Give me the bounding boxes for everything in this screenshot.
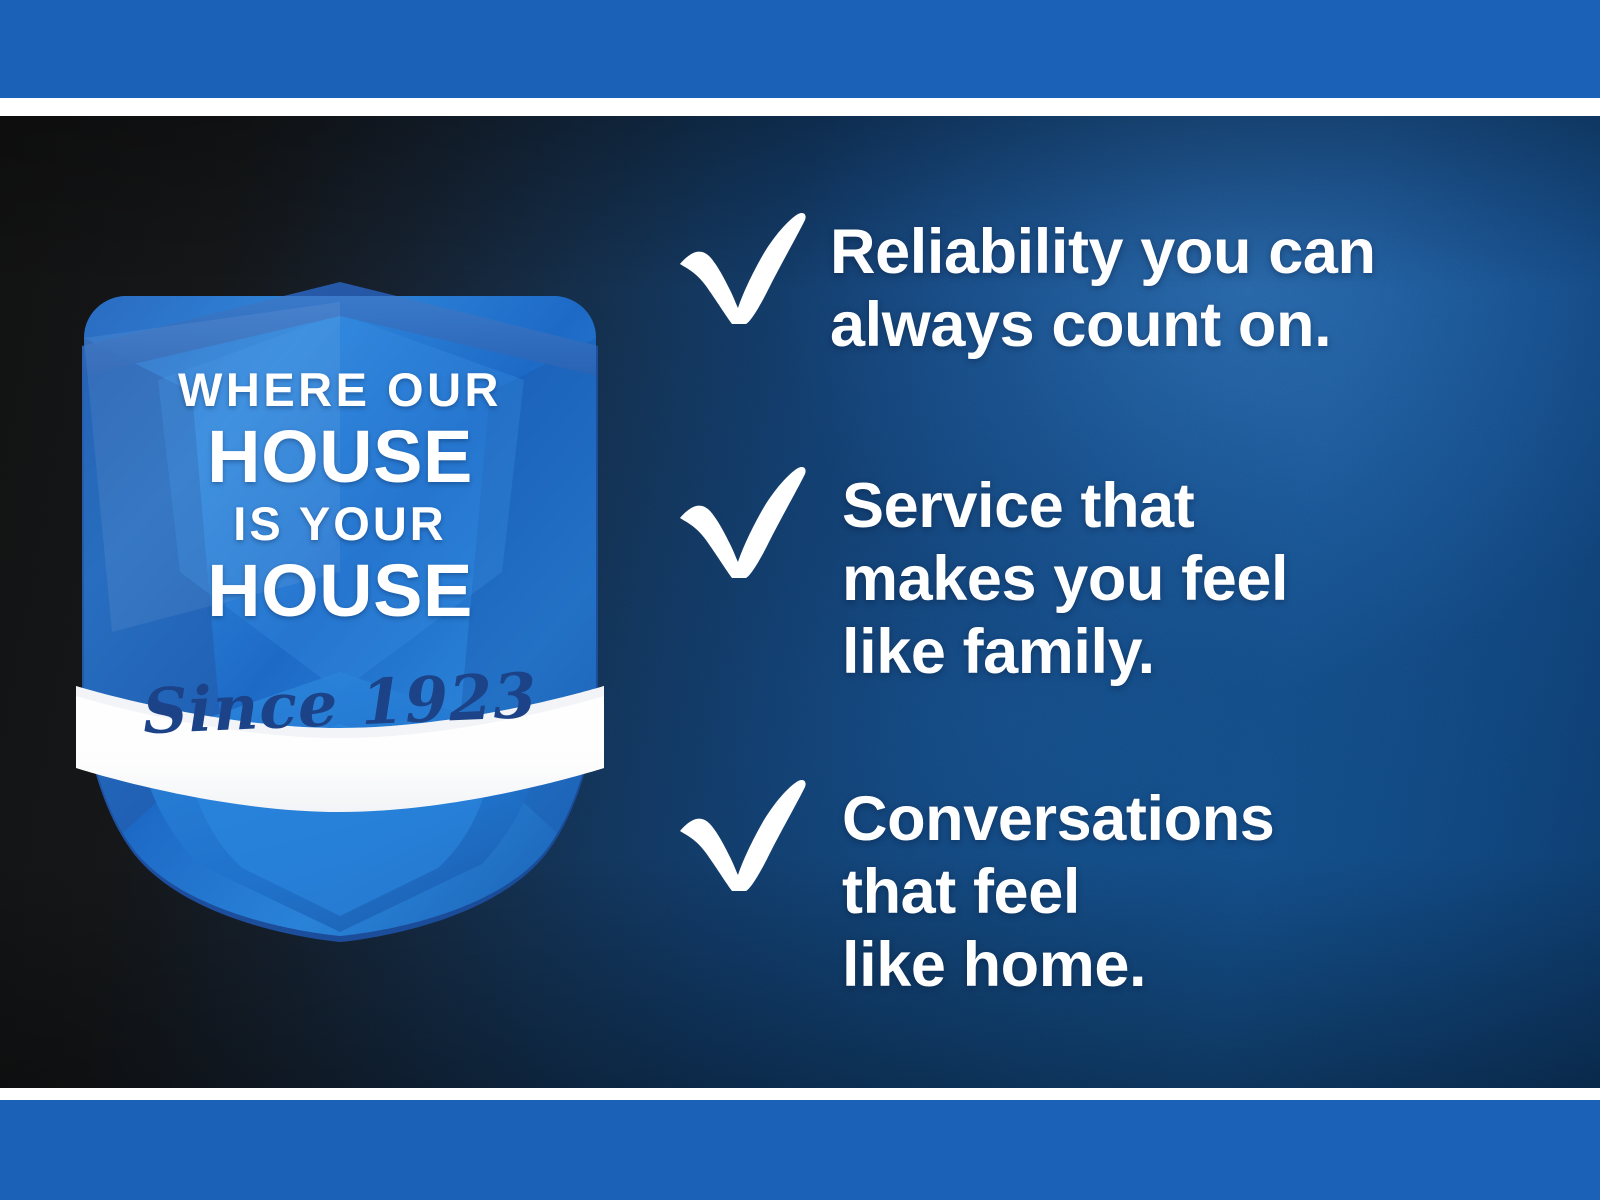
checkmark-icon [676,212,808,324]
list-item-text: Reliability you can always count on. [830,212,1376,362]
checkmark-icon [676,779,808,891]
benefits-list: Reliability you can always count on. Ser… [660,116,1540,1088]
shield-face [72,272,608,944]
list-item-text: Conversations that feel like home. [842,779,1274,1002]
list-item: Reliability you can always count on. [676,212,1376,362]
shield-badge: WHERE OUR HOUSE IS YOUR HOUSE Since 1923 [72,272,608,944]
checkmark-icon [676,466,808,578]
promo-graphic: WHERE OUR HOUSE IS YOUR HOUSE Since 1923… [0,0,1600,1200]
list-item: Service that makes you feel like family. [676,466,1288,689]
bottom-accent-bar [0,1100,1600,1200]
list-item: Conversations that feel like home. [676,779,1274,1002]
list-item-text: Service that makes you feel like family. [842,466,1288,689]
top-accent-bar [0,0,1600,98]
